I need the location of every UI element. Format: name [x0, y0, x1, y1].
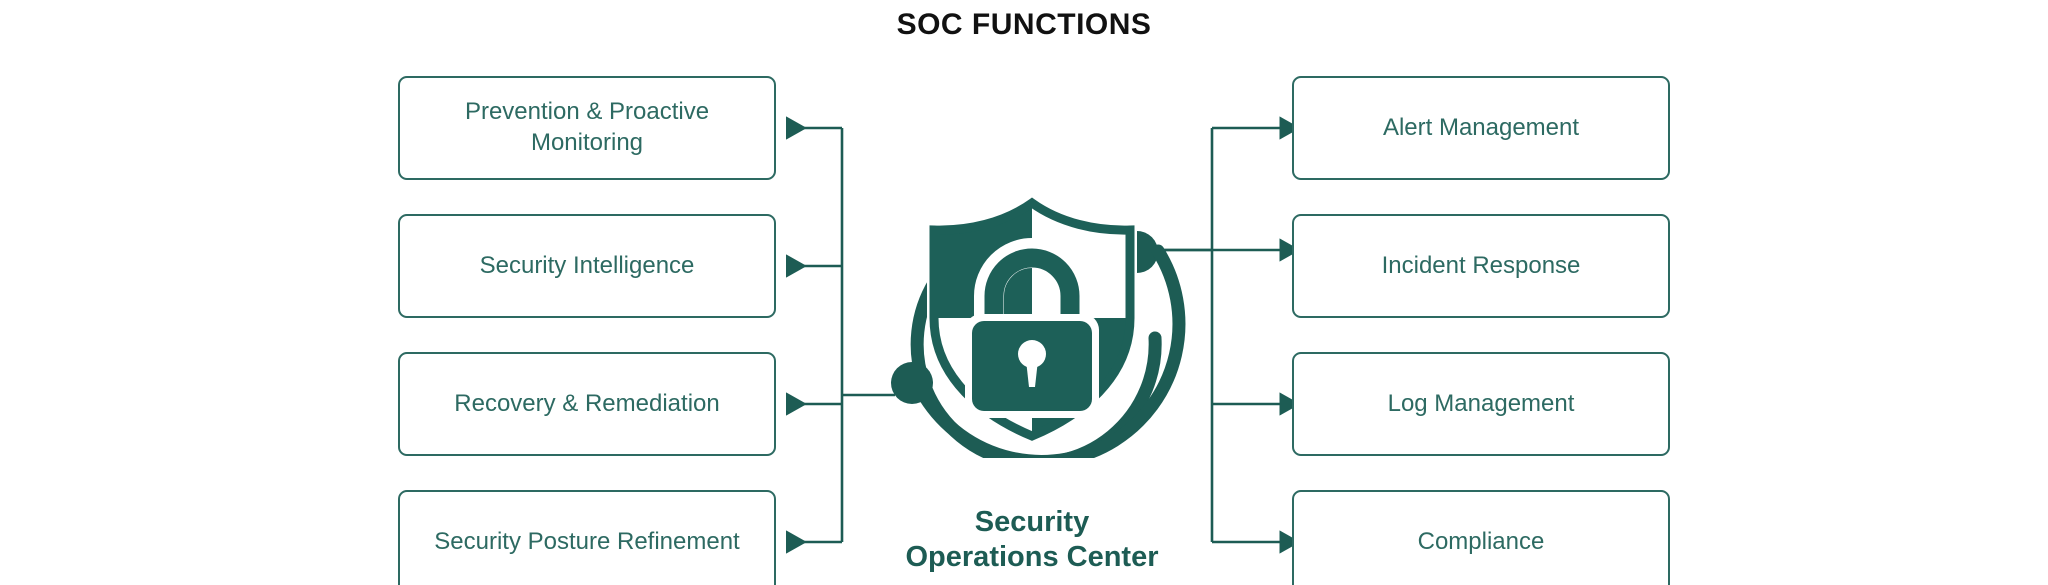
function-box-recovery-remediation[interactable]: Recovery & Remediation	[398, 352, 776, 456]
function-box-security-posture-refinement[interactable]: Security Posture Refinement	[398, 490, 776, 585]
center-label-line-1: Security	[975, 506, 1089, 538]
label-line-1: Prevention & Proactive	[465, 98, 709, 125]
function-box-label: Prevention & Proactive Monitoring	[465, 97, 709, 158]
function-box-security-intelligence[interactable]: Security Intelligence	[398, 214, 776, 318]
function-box-label: Security Intelligence	[480, 251, 695, 282]
function-box-alert-management[interactable]: Alert Management	[1292, 76, 1670, 180]
function-box-label: Compliance	[1418, 527, 1545, 558]
function-box-incident-response[interactable]: Incident Response	[1292, 214, 1670, 318]
center-label: Security Operations Center	[852, 505, 1212, 576]
function-box-prevention-proactive-monitoring[interactable]: Prevention & Proactive Monitoring	[398, 76, 776, 180]
shield-lock-icon	[872, 168, 1192, 458]
diagram-canvas: SOC FUNCTIONS	[0, 0, 2048, 585]
center-label-line-2: Operations Center	[852, 540, 1212, 575]
function-box-log-management[interactable]: Log Management	[1292, 352, 1670, 456]
function-box-compliance[interactable]: Compliance	[1292, 490, 1670, 585]
orbit-dot-bottom-left	[891, 362, 933, 404]
function-box-label: Log Management	[1388, 389, 1575, 420]
function-box-label: Recovery & Remediation	[454, 389, 719, 420]
function-box-label: Alert Management	[1383, 113, 1579, 144]
function-box-label: Incident Response	[1382, 251, 1581, 282]
label-line-2: Monitoring	[531, 129, 643, 156]
page-title: SOC FUNCTIONS	[0, 8, 2048, 42]
function-box-label: Security Posture Refinement	[434, 527, 739, 558]
